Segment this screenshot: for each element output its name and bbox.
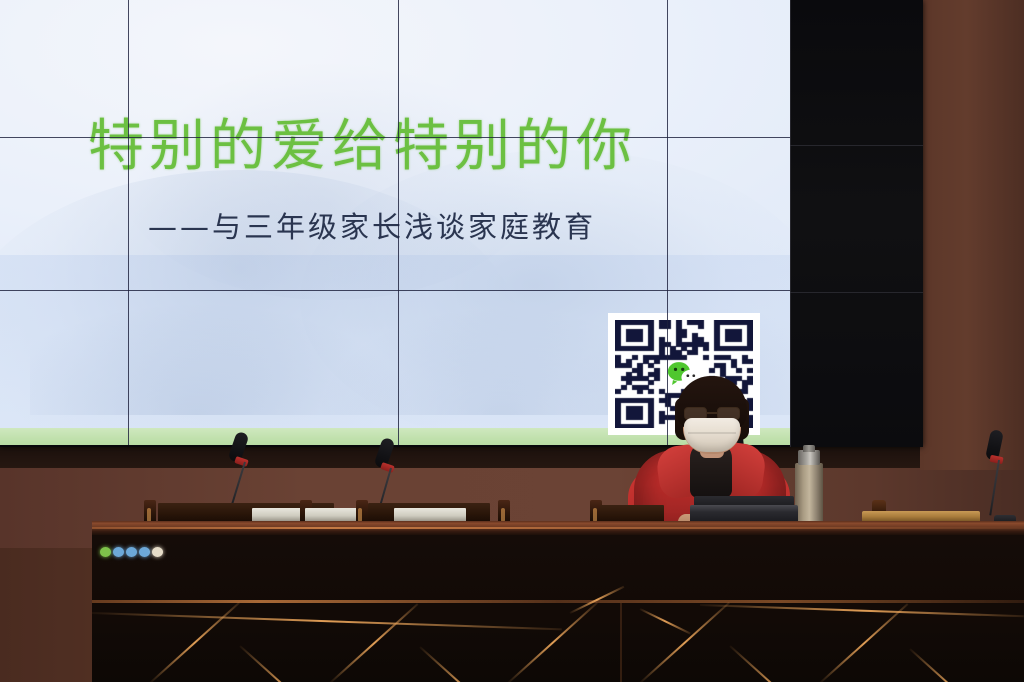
nameplate-post-glow-5: [593, 508, 597, 522]
thermos-top: [803, 445, 815, 452]
thermos-bottle: [795, 463, 823, 525]
glasses-bridge: [707, 412, 717, 414]
desk-status-light-4: [139, 547, 150, 557]
bezel-seam-v1: [128, 0, 129, 445]
bezel-seam-h4: [790, 292, 923, 293]
mic-stem: [989, 460, 1000, 516]
led-dark-panels: [790, 0, 923, 447]
slide-subtitle: ——与三年级家长浅谈家庭教育: [148, 204, 708, 246]
desk-status-lights: [100, 546, 170, 557]
face-mask: [684, 418, 740, 452]
nameplate-post-glow-4: [501, 508, 505, 522]
nameplate-post-glow-1: [147, 508, 151, 522]
slide-title: 特别的爱给特别的你: [88, 118, 718, 177]
desk-status-light-1: [100, 547, 111, 557]
photo-scene: 特别的爱给特别的你 ——与三年级家长浅谈家庭教育: [0, 0, 1024, 682]
mic-ring: [380, 462, 395, 473]
wall-right-pillar: [920, 0, 1024, 470]
bezel-seam-h3: [790, 145, 923, 146]
mic-ring: [234, 456, 249, 467]
table-panel-divider-1: [620, 603, 622, 682]
bezel-seam-v2: [398, 0, 399, 445]
face-mask-fold: [688, 432, 736, 434]
thermos-cap: [798, 450, 820, 465]
desk-status-light-3: [126, 547, 137, 557]
desk-status-light-5: [152, 547, 163, 557]
conference-table-edge-highlight: [92, 527, 1024, 529]
mic-stem: [230, 462, 246, 508]
desk-status-light-2: [113, 547, 124, 557]
bezel-seam-h2: [0, 290, 790, 291]
microphone-right: [986, 430, 1024, 526]
conference-table-ledge: [92, 600, 1024, 603]
bezel-seam-h1: [0, 137, 790, 138]
nameplate-post-glow-3: [358, 508, 362, 522]
